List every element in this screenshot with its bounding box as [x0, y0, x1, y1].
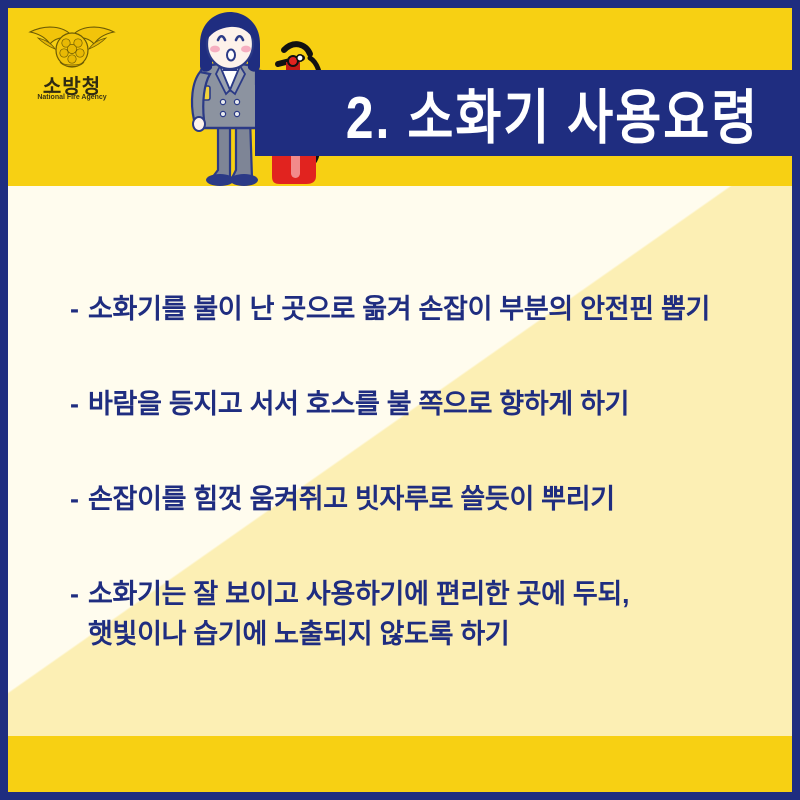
content-body: - 소화기를 불이 난 곳으로 옮겨 손잡이 부분의 안전핀 뽑기 - 바람을 … [8, 186, 792, 736]
page-title: 2. 소화기 사용요령 [296, 71, 759, 156]
list-item: - 소화기를 불이 난 곳으로 옮겨 손잡이 부분의 안전핀 뽑기 [70, 290, 752, 329]
list-item-text: 소화기를 불이 난 곳으로 옮겨 손잡이 부분의 안전핀 뽑기 [88, 290, 710, 329]
list-item-line1: 소화기는 잘 보이고 사용하기에 편리한 곳에 두되, [88, 579, 629, 609]
instruction-list: - 소화기를 불이 난 곳으로 옮겨 손잡이 부분의 안전핀 뽑기 - 바람을 … [70, 290, 752, 710]
list-item-text: 소화기는 잘 보이고 사용하기에 편리한 곳에 두되, 햇빛이나 습기에 노출되… [88, 575, 629, 653]
agency-logo: 소방청 National Fire Agency [24, 22, 120, 114]
poster-inner-frame: 소방청 National Fire Agency [8, 8, 792, 792]
infographic-poster: 소방청 National Fire Agency [0, 0, 800, 800]
list-item-line1: 바람을 등지고 서서 호스를 불 쪽으로 향하게 하기 [88, 389, 629, 419]
bullet-marker: - [70, 290, 79, 329]
list-item: - 바람을 등지고 서서 호스를 불 쪽으로 향하게 하기 [70, 385, 752, 424]
list-item-line2: 햇빛이나 습기에 노출되지 않도록 하기 [88, 615, 629, 654]
title-banner: 2. 소화기 사용요령 [255, 70, 792, 156]
list-item-line1: 소화기를 불이 난 곳으로 옮겨 손잡이 부분의 안전핀 뽑기 [88, 294, 710, 324]
bullet-marker: - [70, 385, 79, 424]
footer-band [8, 736, 792, 792]
list-item: - 손잡이를 힘껏 움켜쥐고 빗자루로 쓸듯이 뿌리기 [70, 480, 752, 519]
header-band: 소방청 National Fire Agency [8, 8, 792, 186]
list-item-text: 손잡이를 힘껏 움켜쥐고 빗자루로 쓸듯이 뿌리기 [88, 480, 615, 519]
eagle-emblem-icon [24, 22, 120, 72]
bullet-marker: - [70, 480, 79, 519]
list-item-line1: 손잡이를 힘껏 움켜쥐고 빗자루로 쓸듯이 뿌리기 [88, 484, 615, 514]
list-item: - 소화기는 잘 보이고 사용하기에 편리한 곳에 두되, 햇빛이나 습기에 노… [70, 575, 752, 653]
list-item-text: 바람을 등지고 서서 호스를 불 쪽으로 향하게 하기 [88, 385, 629, 424]
agency-name-en: National Fire Agency [24, 94, 120, 101]
bullet-marker: - [70, 575, 79, 614]
